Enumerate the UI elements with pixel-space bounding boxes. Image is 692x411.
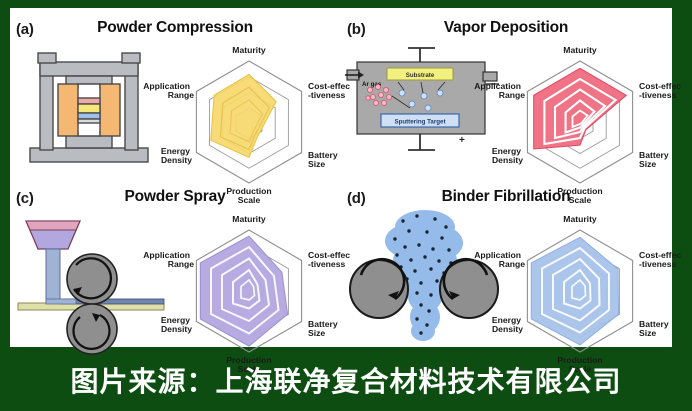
axis-label-battery-size-l2: Size bbox=[639, 159, 656, 169]
axis-label-application-range-l2: Range bbox=[168, 90, 194, 100]
axis-label-energy-density-l2: Density bbox=[492, 155, 523, 165]
axis-label-cost-effectiveness-l2: -tiveness bbox=[639, 90, 676, 100]
panel-a: (a) Powder Compression bbox=[10, 8, 341, 177]
anode-plus-label: + bbox=[459, 135, 465, 146]
layer-cathode bbox=[78, 98, 100, 104]
radar-chart-b: Maturity Cost-effec -tiveness Battery Si… bbox=[491, 36, 669, 176]
press-crossbeam bbox=[40, 62, 138, 76]
panel-d: (d) Binder Fibrillation bbox=[341, 177, 672, 346]
radar-chart-c: Maturity Cost-effec -tiveness Battery Si… bbox=[160, 205, 338, 345]
panel-b-title: Vapor Deposition bbox=[381, 19, 631, 37]
vapor-deposition-diagram: Substrate Sputtering Target Ar gas + bbox=[345, 38, 501, 168]
axis-label-battery-size-l2: Size bbox=[308, 159, 325, 169]
axis-label-maturity: Maturity bbox=[232, 214, 266, 224]
radar-series-c bbox=[200, 236, 287, 346]
axis-label-cost-effectiveness-l2: -tiveness bbox=[639, 259, 676, 269]
axis-label-maturity: Maturity bbox=[563, 45, 597, 55]
axis-label-cost-effectiveness-l2: -tiveness bbox=[308, 259, 345, 269]
image-frame: (a) Powder Compression bbox=[0, 0, 692, 411]
axis-label-energy-density-l2: Density bbox=[161, 155, 192, 165]
axis-label-maturity: Maturity bbox=[563, 214, 597, 224]
axis-label-application-range-l2: Range bbox=[499, 90, 525, 100]
axis-label-energy-density-l2: Density bbox=[492, 324, 523, 334]
powder-spray-diagram bbox=[12, 207, 172, 339]
sputtering-target-label: Sputtering Target bbox=[394, 119, 445, 126]
powder-deposit bbox=[46, 299, 76, 304]
panel-a-title: Powder Compression bbox=[50, 19, 300, 37]
panel-c-title: Powder Spray bbox=[50, 188, 300, 206]
axis-label-cost-effectiveness-l2: -tiveness bbox=[308, 90, 345, 100]
figure-canvas: (a) Powder Compression bbox=[10, 8, 672, 347]
layer-current-collector bbox=[78, 119, 100, 123]
press-heater-right bbox=[100, 84, 120, 136]
panel-c-label: (c) bbox=[16, 190, 34, 207]
panel-b: (b) Vapor Deposition bbox=[341, 8, 672, 177]
powder-hopper-rim bbox=[26, 221, 80, 230]
panel-c: (c) Powder Spray bbox=[10, 177, 341, 346]
radar-chart-a: Maturity Cost-effec -tiveness Battery Si… bbox=[160, 36, 338, 176]
axis-label-energy-density-l2: Density bbox=[161, 324, 192, 334]
panel-d-title: Binder Fibrillation bbox=[381, 188, 631, 206]
spray-nozzle-column bbox=[46, 249, 60, 305]
layer-anode bbox=[78, 113, 100, 119]
axis-label-application-range-l2: Range bbox=[499, 259, 525, 269]
source-caption: 图片来源：上海联净复合材料技术有限公司 bbox=[0, 349, 692, 411]
axis-label-maturity: Maturity bbox=[232, 45, 266, 55]
roller-top bbox=[67, 254, 117, 304]
binder-fibrillation-diagram bbox=[347, 205, 503, 341]
substrate-label: Substrate bbox=[406, 72, 435, 79]
panel-b-label: (b) bbox=[347, 21, 366, 38]
press-bolt-right bbox=[122, 53, 140, 63]
powder-compression-diagram bbox=[18, 40, 168, 172]
axis-label-battery-size-l2: Size bbox=[308, 328, 325, 338]
radar-chart-d: Maturity Cost-effec -tiveness Battery Si… bbox=[491, 205, 669, 345]
press-heater-left bbox=[58, 84, 78, 136]
panel-a-label: (a) bbox=[16, 21, 34, 38]
layer-electrolyte bbox=[78, 104, 100, 113]
axis-label-battery-size-l2: Size bbox=[639, 328, 656, 338]
axis-label-application-range-l2: Range bbox=[168, 259, 194, 269]
radar-series-d bbox=[531, 237, 618, 345]
press-bolt-left bbox=[38, 53, 56, 63]
